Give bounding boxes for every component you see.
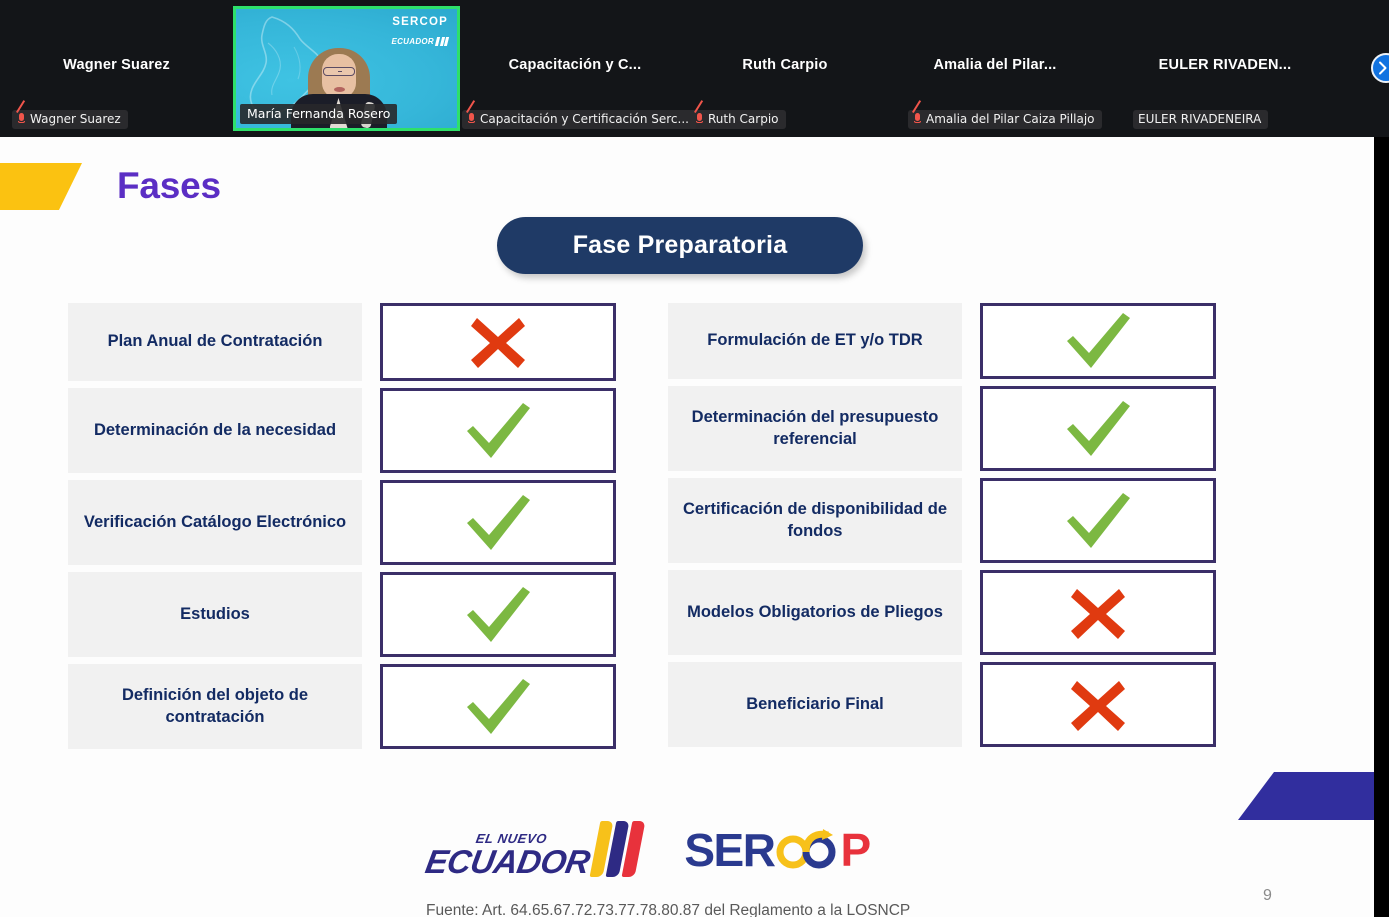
check-icon: [1059, 491, 1137, 551]
participant-badge-label: Ruth Carpio: [708, 112, 779, 126]
phase-row: Formulación de ET y/o TDR: [668, 303, 1216, 379]
phase-label-box: Beneficiario Final: [668, 662, 962, 747]
participant-name-badge: Ruth Carpio: [690, 110, 786, 129]
zoom-participant-filmstrip: Wagner Suarez Wagner Suarez SERCOP ECUAD…: [0, 0, 1389, 137]
cross-icon: [467, 312, 529, 372]
ecuador-watermark-label: ECUADOR: [391, 37, 434, 46]
phase-label: Certificación de disponibilidad de fondo…: [682, 499, 948, 541]
ecuador-flag-bars-icon: [595, 821, 640, 877]
phase-row: Verificación Catálogo Electrónico: [68, 480, 616, 565]
phase-mark-box: [380, 303, 616, 381]
ecuador-watermark: ECUADOR: [391, 37, 448, 46]
phase-pill-label: Fase Preparatoria: [573, 231, 788, 260]
phase-label: Modelos Obligatorios de Pliegos: [687, 602, 943, 623]
microphone-muted-icon: [17, 113, 26, 126]
phase-mark-box: [980, 662, 1216, 747]
phase-mark-box: [380, 572, 616, 657]
participant-display-name: Ruth Carpio: [742, 57, 827, 73]
phase-row: Determinación del presupuesto referencia…: [668, 386, 1216, 471]
phases-column-right: Formulación de ET y/o TDR Determinación …: [668, 303, 1216, 754]
participant-badge-label: Wagner Suarez: [30, 112, 121, 126]
phase-mark-box: [980, 478, 1216, 563]
phase-row: Determinación de la necesidad: [68, 388, 616, 473]
ecuador-logo-text: EL NUEVO ECUADOR: [426, 832, 589, 879]
phase-mark-box: [380, 480, 616, 565]
filmstrip-next-button[interactable]: [1371, 53, 1389, 83]
phase-label-box: Determinación de la necesidad: [68, 388, 362, 473]
phase-label-box: Modelos Obligatorios de Pliegos: [668, 570, 962, 655]
glasses-icon: [323, 67, 355, 76]
participant-badge-label: Amalia del Pilar Caiza Pillajo: [926, 112, 1095, 126]
participant-tile-1-active-speaker[interactable]: SERCOP ECUADOR María Fernanda Rosero: [233, 6, 460, 131]
title-accent-flag: [0, 163, 82, 210]
phase-row: Certificación de disponibilidad de fondo…: [668, 478, 1216, 563]
phase-label: Estudios: [180, 604, 250, 625]
sercop-watermark: SERCOP: [392, 16, 448, 28]
source-note: Fuente: Art. 64.65.67.72.73.77.78.80.87 …: [426, 902, 910, 917]
slide-page-number: 9: [1263, 887, 1272, 905]
ecuador-logo-title: ECUADOR: [423, 845, 592, 879]
phase-mark-box: [980, 386, 1216, 471]
sercop-logo: SER P: [684, 823, 869, 877]
participant-display-name: Wagner Suarez: [63, 57, 170, 73]
participant-badge-label: EULER RIVADENEIRA: [1138, 112, 1261, 126]
check-icon: [459, 401, 537, 461]
phase-label-box: Verificación Catálogo Electrónico: [68, 480, 362, 565]
slide-right-margin: [1374, 137, 1389, 917]
participant-display-name: Capacitación y C...: [509, 57, 642, 73]
check-icon: [1059, 399, 1137, 459]
phase-label: Verificación Catálogo Electrónico: [84, 512, 346, 533]
footer-logos: EL NUEVO ECUADOR SER P: [426, 821, 870, 879]
phase-label-box: Certificación de disponibilidad de fondo…: [668, 478, 962, 563]
participant-name-badge: EULER RIVADENEIRA: [1133, 110, 1268, 129]
microphone-muted-icon: [913, 113, 922, 126]
participant-name-badge: Wagner Suarez: [12, 110, 128, 129]
participant-name-badge: Amalia del Pilar Caiza Pillajo: [908, 110, 1102, 129]
phase-label: Determinación de la necesidad: [94, 420, 336, 441]
microphone-muted-icon: [695, 113, 704, 126]
sercop-logo-infinity-icon: [776, 829, 838, 871]
participant-badge-label: Capacitación y Certificación Serc...: [480, 112, 689, 126]
check-icon: [459, 585, 537, 645]
check-icon: [459, 493, 537, 553]
chevron-right-icon: [1376, 61, 1389, 75]
check-icon: [1059, 311, 1137, 371]
phase-label: Plan Anual de Contratación: [108, 331, 323, 352]
cross-icon: [1067, 675, 1129, 735]
cross-icon: [1067, 583, 1129, 643]
phase-label-box: Estudios: [68, 572, 362, 657]
phase-mark-box: [380, 664, 616, 749]
phase-row: Estudios: [68, 572, 616, 657]
phase-label-box: Plan Anual de Contratación: [68, 303, 362, 381]
phase-label-box: Determinación del presupuesto referencia…: [668, 386, 962, 471]
ecuador-logo: EL NUEVO ECUADOR: [426, 821, 640, 879]
corner-accent-shape: [1238, 772, 1374, 820]
phase-label: Formulación de ET y/o TDR: [707, 330, 922, 351]
phase-row: Beneficiario Final: [668, 662, 1216, 747]
participant-tile-4[interactable]: Amalia del Pilar... Amalia del Pilar Cai…: [880, 0, 1110, 137]
participant-tile-3[interactable]: Ruth Carpio Ruth Carpio: [690, 0, 880, 137]
phase-row: Definición del objeto de contratación: [68, 664, 616, 749]
phase-pill-badge: Fase Preparatoria: [497, 217, 863, 274]
phase-label: Beneficiario Final: [746, 694, 884, 715]
phase-mark-box: [380, 388, 616, 473]
phase-label-box: Formulación de ET y/o TDR: [668, 303, 962, 379]
microphone-muted-icon: [467, 113, 476, 126]
sercop-logo-right-text: P: [840, 823, 869, 877]
phase-row: Modelos Obligatorios de Pliegos: [668, 570, 1216, 655]
active-speaker-name-badge: María Fernanda Rosero: [240, 104, 397, 124]
participant-tile-0[interactable]: Wagner Suarez Wagner Suarez: [0, 0, 233, 137]
phase-mark-box: [980, 570, 1216, 655]
ecuador-flag-bars-icon: [436, 37, 448, 46]
participant-display-name: Amalia del Pilar...: [933, 57, 1056, 73]
phase-label: Definición del objeto de contratación: [82, 685, 348, 727]
check-icon: [459, 677, 537, 737]
presentation-slide: Fases Fase Preparatoria Plan Anual de Co…: [0, 137, 1374, 917]
participant-tile-5[interactable]: EULER RIVADEN... EULER RIVADENEIRA: [1110, 0, 1340, 137]
phase-label: Determinación del presupuesto referencia…: [682, 407, 948, 449]
phases-column-left: Plan Anual de Contratación Determinación…: [68, 303, 616, 756]
participant-name-badge: Capacitación y Certificación Serc...: [462, 110, 696, 129]
participant-display-name: EULER RIVADEN...: [1159, 57, 1292, 73]
sercop-logo-left-text: SER: [684, 823, 774, 877]
phase-mark-box: [980, 303, 1216, 379]
page-title: Fases: [117, 165, 221, 207]
phase-row: Plan Anual de Contratación: [68, 303, 616, 381]
participant-tile-2[interactable]: Capacitación y C... Capacitación y Certi…: [460, 0, 690, 137]
phase-label-box: Definición del objeto de contratación: [68, 664, 362, 749]
